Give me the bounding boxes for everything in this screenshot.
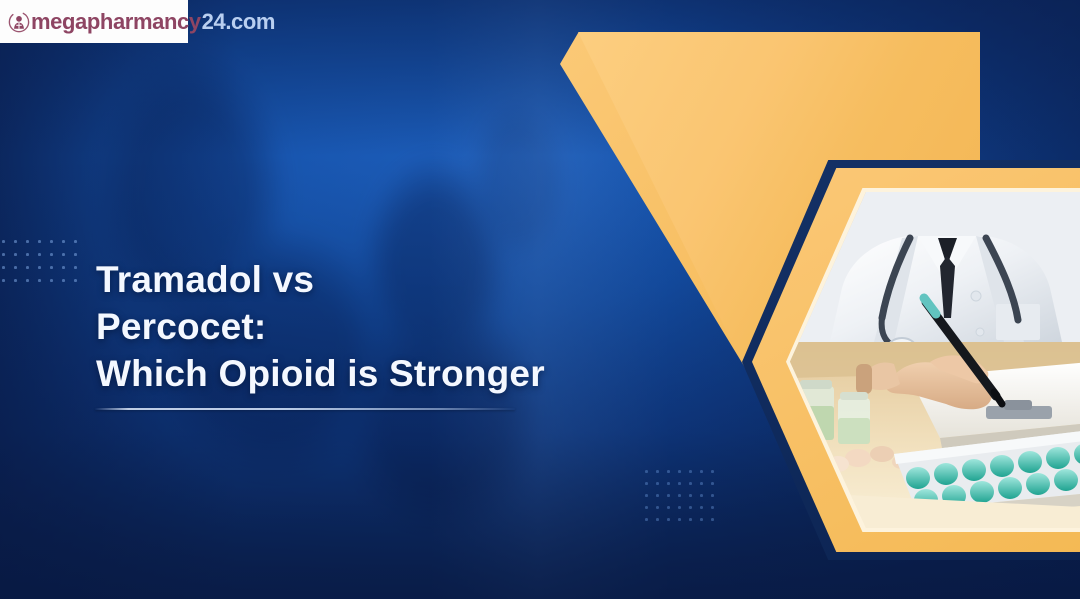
- site-logo[interactable]: megapharmancy24.com: [8, 6, 275, 38]
- page-title: Tramadol vs Percocet: Which Opioid is St…: [96, 256, 696, 397]
- pharmacy-person-icon: [8, 11, 30, 33]
- logo-name-domain: 24.com: [202, 11, 275, 33]
- title-underline: [95, 408, 515, 410]
- hero-banner: megapharmancy24.com Tramadol vs Percocet…: [0, 0, 1080, 599]
- logo-name-primary: megapharmancy: [31, 11, 201, 33]
